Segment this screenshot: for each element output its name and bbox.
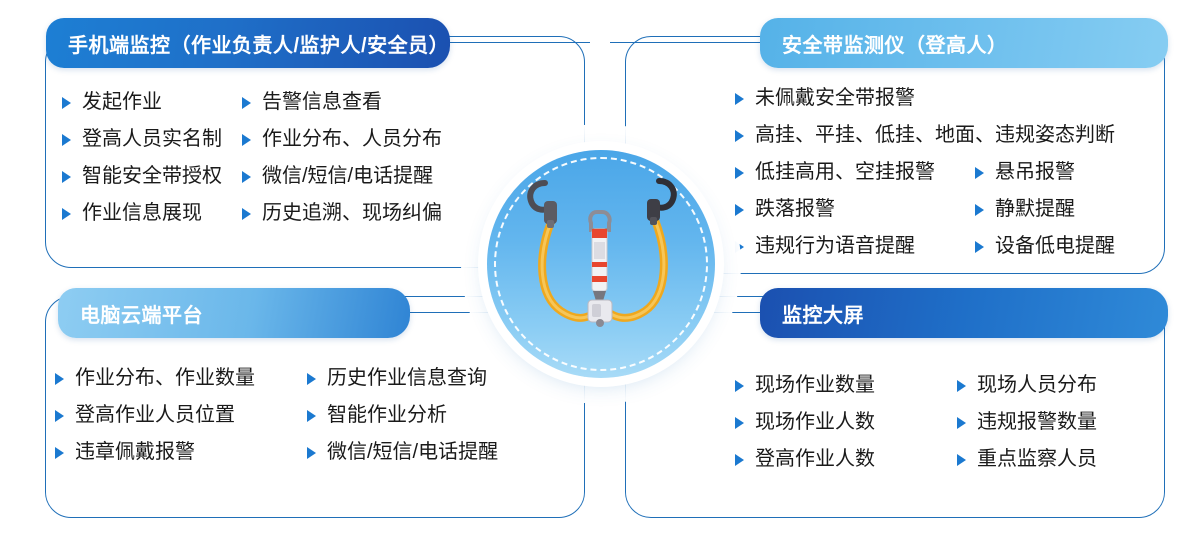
triangle-bullet-icon [975, 241, 984, 253]
feature-label: 设备低电提醒 [995, 236, 1115, 256]
feature-column: 作业分布、作业数量登高作业人员位置违章佩戴报警 [55, 368, 307, 479]
triangle-bullet-icon [735, 454, 744, 466]
feature-row[interactable]: 发起作业 [62, 92, 242, 112]
panel-header-monitoring-wall[interactable]: 监控大屏 [760, 288, 1168, 338]
feature-label: 微信/短信/电话提醒 [262, 166, 433, 186]
feature-label: 跌落报警 [755, 199, 835, 219]
panel-header-label: 手机端监控（作业负责人/监护人/安全员） [46, 29, 475, 58]
feature-row[interactable]: 未佩戴安全带报警 [735, 88, 975, 108]
triangle-bullet-icon [62, 134, 71, 146]
center-graphic [487, 150, 715, 378]
panel-header-safety-belt-monitor[interactable]: 安全带监测仪（登高人） [760, 18, 1168, 68]
feature-row[interactable]: 违规报警数量 [957, 412, 1097, 432]
center-circle [487, 150, 715, 378]
panel-header-label: 电脑云端平台 [58, 299, 229, 328]
feature-row[interactable]: 静默提醒 [975, 199, 1115, 219]
feature-label: 违章佩戴报警 [75, 442, 195, 462]
feature-row[interactable]: 低挂高用、空挂报警 [735, 162, 975, 182]
triangle-bullet-icon [307, 447, 316, 459]
feature-label: 现场作业数量 [755, 375, 875, 395]
panel-header-label: 安全带监测仪（登高人） [760, 29, 1034, 58]
triangle-bullet-icon [957, 380, 966, 392]
feature-row[interactable]: 登高作业人数 [735, 449, 957, 469]
feature-label: 重点监察人员 [977, 449, 1097, 469]
triangle-bullet-icon [62, 208, 71, 220]
panel-header-cloud-platform[interactable]: 电脑云端平台 [58, 288, 410, 338]
feature-label: 微信/短信/电话提醒 [327, 442, 498, 462]
triangle-bullet-icon [307, 373, 316, 385]
feature-label: 发起作业 [82, 92, 162, 112]
feature-column: 发起作业登高人员实名制智能安全带授权作业信息展现 [62, 92, 242, 240]
triangle-bullet-icon [957, 417, 966, 429]
safety-harness-lanyard-image [487, 150, 715, 378]
triangle-bullet-icon [62, 171, 71, 183]
feature-label: 作业分布、人员分布 [262, 129, 442, 149]
feature-row[interactable]: 微信/短信/电话提醒 [307, 442, 498, 462]
triangle-bullet-icon [735, 204, 744, 216]
panel-header-label: 监控大屏 [760, 299, 890, 328]
feature-label: 历史作业信息查询 [327, 368, 487, 388]
feature-label: 登高作业人员位置 [75, 405, 235, 425]
feature-row[interactable]: 违章佩戴报警 [55, 442, 307, 462]
feature-label: 告警信息查看 [262, 92, 382, 112]
feature-label: 登高作业人数 [755, 449, 875, 469]
feature-row[interactable]: 悬吊报警 [975, 162, 1115, 182]
feature-row[interactable]: 现场人员分布 [957, 375, 1097, 395]
panel-header-mobile-monitoring[interactable]: 手机端监控（作业负责人/监护人/安全员） [46, 18, 450, 68]
feature-row[interactable]: 现场作业人数 [735, 412, 957, 432]
feature-label: 悬吊报警 [995, 162, 1075, 182]
feature-label: 违规行为语音提醒 [755, 236, 915, 256]
feature-row[interactable]: 微信/短信/电话提醒 [242, 166, 442, 186]
feature-list-safety-belt-monitor: 未佩戴安全带报警高挂、平挂、低挂、地面、违规姿态判断低挂高用、空挂报警跌落报警违… [735, 88, 1115, 273]
feature-row[interactable]: 历史作业信息查询 [307, 368, 498, 388]
feature-column: 告警信息查看作业分布、人员分布微信/短信/电话提醒历史追溯、现场纠偏 [242, 92, 442, 240]
feature-row[interactable]: 作业分布、人员分布 [242, 129, 442, 149]
triangle-bullet-icon [242, 208, 251, 220]
diagram-canvas: 手机端监控（作业负责人/监护人/安全员） 安全带监测仪（登高人） 电脑云端平台 … [0, 0, 1200, 550]
triangle-bullet-icon [55, 373, 64, 385]
triangle-bullet-icon [55, 447, 64, 459]
feature-label: 作业信息展现 [82, 203, 202, 223]
feature-row[interactable]: 设备低电提醒 [975, 236, 1115, 256]
feature-label: 智能作业分析 [327, 405, 447, 425]
feature-label: 未佩戴安全带报警 [755, 88, 915, 108]
feature-label: 低挂高用、空挂报警 [755, 162, 935, 182]
feature-row[interactable]: 历史追溯、现场纠偏 [242, 203, 442, 223]
feature-row[interactable]: 作业信息展现 [62, 203, 242, 223]
feature-row[interactable]: 告警信息查看 [242, 92, 442, 112]
triangle-bullet-icon [242, 134, 251, 146]
feature-row[interactable]: 现场作业数量 [735, 375, 957, 395]
feature-label: 登高人员实名制 [82, 129, 222, 149]
feature-column: 现场作业数量现场作业人数登高作业人数 [735, 375, 957, 486]
feature-row[interactable]: 重点监察人员 [957, 449, 1097, 469]
triangle-bullet-icon [55, 410, 64, 422]
feature-row[interactable]: 智能作业分析 [307, 405, 498, 425]
triangle-bullet-icon [62, 97, 71, 109]
triangle-bullet-icon [307, 410, 316, 422]
triangle-bullet-icon [735, 380, 744, 392]
triangle-bullet-icon [242, 97, 251, 109]
connector-top-right-to-center [610, 42, 762, 43]
feature-row[interactable]: 登高人员实名制 [62, 129, 242, 149]
feature-row[interactable]: 智能安全带授权 [62, 166, 242, 186]
feature-column: 悬吊报警静默提醒设备低电提醒 [975, 88, 1115, 273]
feature-label: 静默提醒 [995, 199, 1075, 219]
triangle-bullet-icon [975, 167, 984, 179]
feature-column: 未佩戴安全带报警高挂、平挂、低挂、地面、违规姿态判断低挂高用、空挂报警跌落报警违… [735, 88, 975, 273]
feature-row[interactable]: 违规行为语音提醒 [735, 236, 975, 256]
feature-list-cloud-platform: 作业分布、作业数量登高作业人员位置违章佩戴报警 历史作业信息查询智能作业分析微信… [55, 368, 498, 479]
triangle-bullet-icon [242, 171, 251, 183]
feature-row[interactable]: 跌落报警 [735, 199, 975, 219]
feature-row[interactable]: 高挂、平挂、低挂、地面、违规姿态判断 [735, 125, 975, 145]
triangle-bullet-icon [735, 417, 744, 429]
triangle-bullet-icon [975, 204, 984, 216]
feature-label: 作业分布、作业数量 [75, 368, 255, 388]
feature-label: 现场作业人数 [755, 412, 875, 432]
feature-list-mobile-monitoring: 发起作业登高人员实名制智能安全带授权作业信息展现 告警信息查看作业分布、人员分布… [62, 92, 442, 240]
triangle-bullet-icon [735, 167, 744, 179]
feature-list-monitoring-wall: 现场作业数量现场作业人数登高作业人数 现场人员分布违规报警数量重点监察人员 [735, 375, 1097, 486]
feature-label: 违规报警数量 [977, 412, 1097, 432]
feature-label: 智能安全带授权 [82, 166, 222, 186]
triangle-bullet-icon [735, 130, 744, 142]
feature-row[interactable]: 登高作业人员位置 [55, 405, 307, 425]
feature-row[interactable]: 作业分布、作业数量 [55, 368, 307, 388]
feature-label: 历史追溯、现场纠偏 [262, 203, 442, 223]
feature-label: 现场人员分布 [977, 375, 1097, 395]
feature-column: 历史作业信息查询智能作业分析微信/短信/电话提醒 [307, 368, 498, 479]
triangle-bullet-icon [957, 454, 966, 466]
triangle-bullet-icon [735, 93, 744, 105]
feature-column: 现场人员分布违规报警数量重点监察人员 [957, 375, 1097, 486]
